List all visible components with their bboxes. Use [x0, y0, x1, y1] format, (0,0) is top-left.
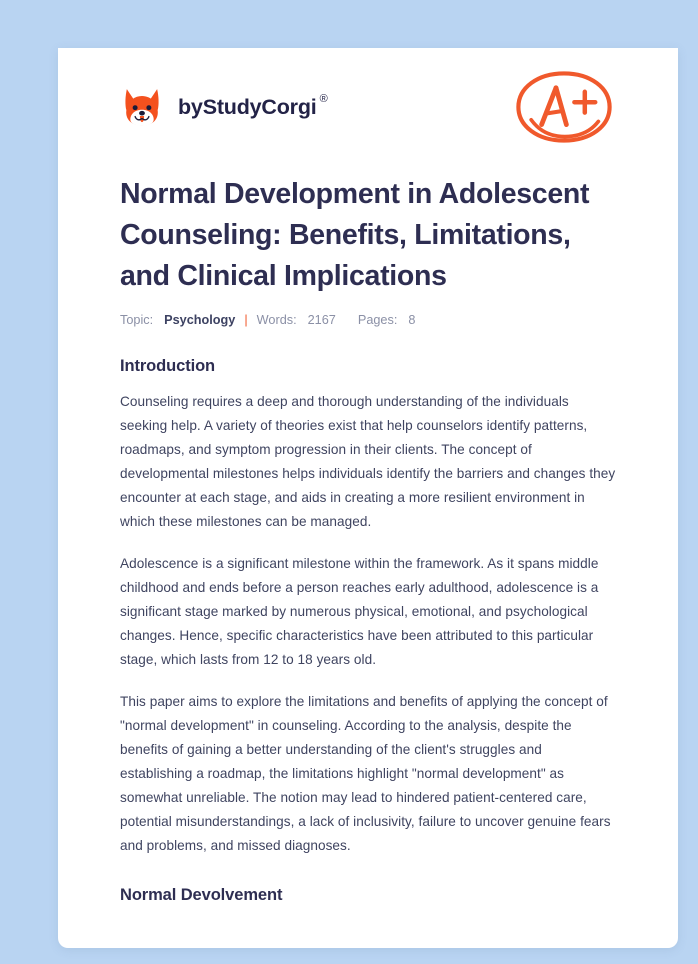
- meta-pages-value: 8: [408, 313, 415, 327]
- document-page-sheet: by StudyCorgi® Normal Development in Ado…: [58, 48, 678, 948]
- brand-name: StudyCorgi: [203, 95, 317, 120]
- meta-topic-value[interactable]: Psychology: [164, 313, 235, 327]
- meta-words-value: 2167: [308, 313, 336, 327]
- body-paragraph: This paper aims to explore the limitatio…: [120, 690, 616, 858]
- page-title: Normal Development in Adolescent Counsel…: [120, 174, 616, 297]
- document-meta: Topic: Psychology | Words: 2167 Pages: 8: [120, 313, 616, 327]
- meta-separator: |: [244, 313, 247, 327]
- meta-pages-label: Pages:: [358, 313, 398, 327]
- body-paragraph: Adolescence is a significant milestone w…: [120, 552, 616, 672]
- meta-words-label: Words:: [257, 313, 297, 327]
- section-heading-introduction: Introduction: [120, 357, 616, 376]
- brand-prefix: by: [178, 95, 203, 120]
- corgi-head-icon: [120, 85, 164, 129]
- section-heading-normal-devolvement: Normal Devolvement: [120, 886, 616, 905]
- document-header: by StudyCorgi®: [120, 48, 616, 152]
- brand-wordmark: by StudyCorgi®: [178, 95, 327, 120]
- meta-topic-label: Topic:: [120, 313, 153, 327]
- a-plus-circled-icon: [512, 66, 616, 148]
- body-paragraph: Counseling requires a deep and thorough …: [120, 390, 616, 534]
- studycorgi-brand[interactable]: by StudyCorgi®: [120, 85, 327, 129]
- registered-trademark-icon: ®: [320, 93, 328, 105]
